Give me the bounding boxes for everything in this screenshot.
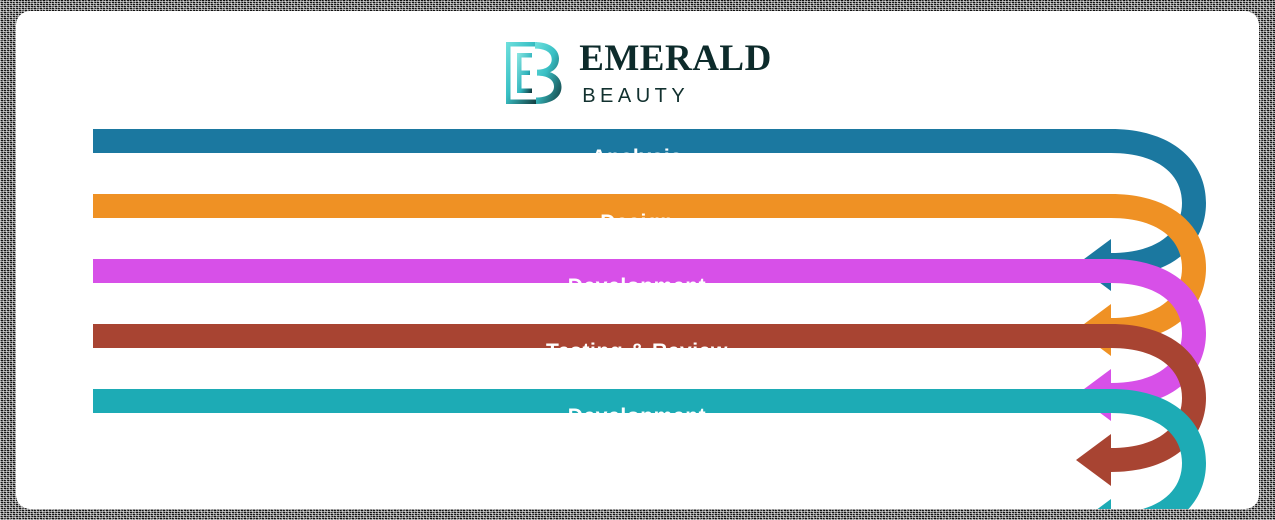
flow-arrows-svg — [16, 11, 1259, 509]
screenshot-frame: EMERALD BEAUTY — [0, 0, 1275, 520]
content-card: EMERALD BEAUTY — [16, 11, 1259, 509]
process-flow-diagram: Analysis Design Development Testing & Re… — [16, 11, 1259, 509]
flow-arrow-5 — [93, 389, 1206, 509]
